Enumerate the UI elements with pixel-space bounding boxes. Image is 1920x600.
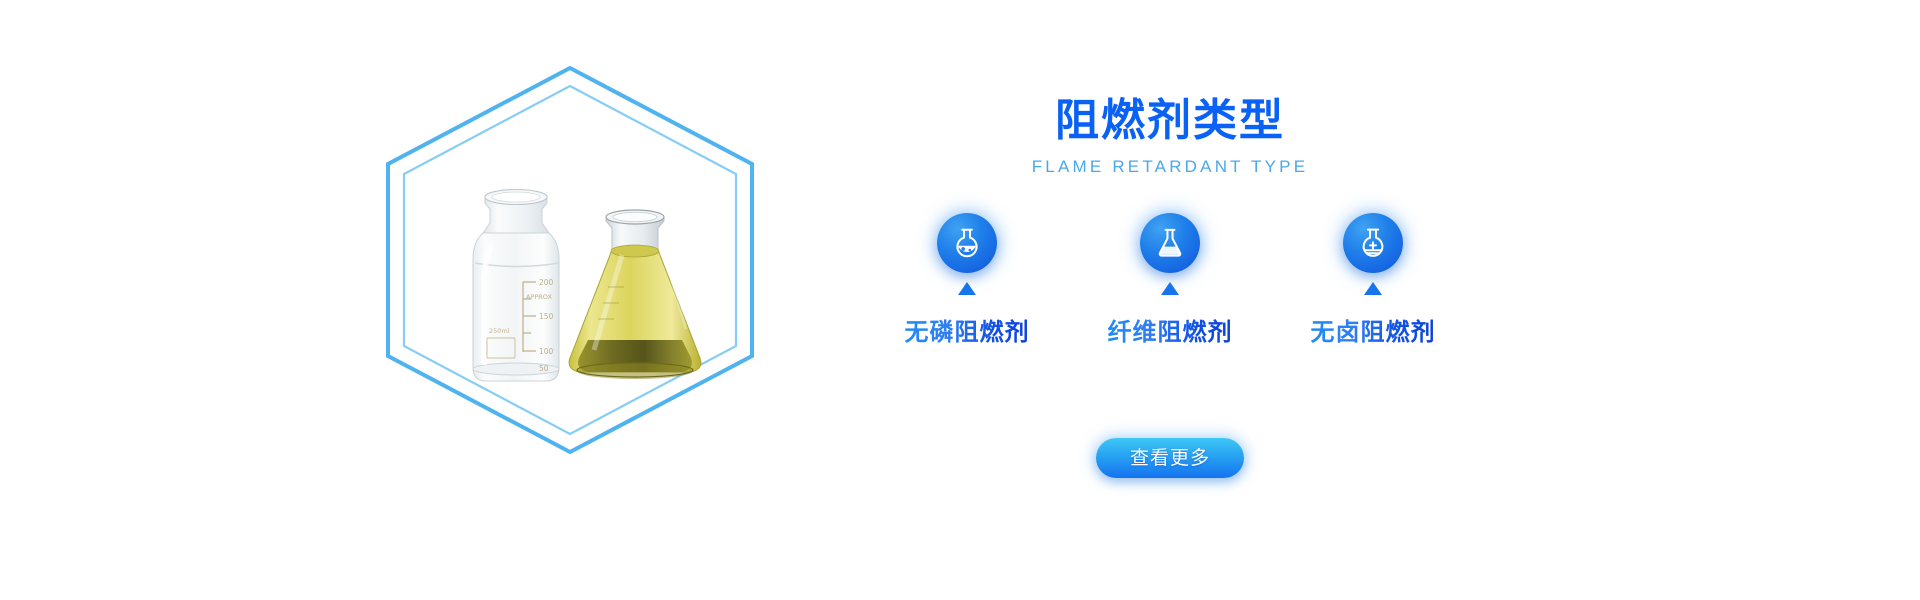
- flame-retardant-banner: 200 APPROX 150 100 50 250ml: [0, 0, 1920, 600]
- heading-block: 阻燃剂类型 FLAME RETARDANT TYPE: [860, 96, 1480, 177]
- hero-content-area: 阻燃剂类型 FLAME RETARDANT TYPE: [860, 0, 1920, 600]
- conical-flask-icon[interactable]: [1140, 213, 1200, 273]
- svg-text:200: 200: [539, 278, 554, 287]
- retardant-type-list: 无磷阻燃剂 纤维阻燃剂: [860, 213, 1480, 347]
- svg-text:50: 50: [539, 364, 549, 373]
- pointer-triangle-icon: [958, 282, 976, 295]
- svg-text:100: 100: [539, 347, 554, 356]
- page-subtitle: FLAME RETARDANT TYPE: [860, 157, 1480, 177]
- svg-text:APPROX: APPROX: [526, 293, 553, 301]
- type-item-fiber[interactable]: 纤维阻燃剂: [1075, 213, 1265, 347]
- round-bottom-flask-bubbles-icon[interactable]: [937, 213, 997, 273]
- type-item-halogen-free[interactable]: 无卤阻燃剂: [1278, 213, 1468, 347]
- svg-text:150: 150: [539, 312, 554, 321]
- type-label: 纤维阻燃剂: [1108, 312, 1233, 347]
- type-label: 无磷阻燃剂: [905, 312, 1030, 347]
- flask-plus-icon[interactable]: [1343, 213, 1403, 273]
- view-more-button[interactable]: 查看更多: [1096, 438, 1244, 478]
- type-label: 无卤阻燃剂: [1311, 312, 1436, 347]
- pointer-triangle-icon: [1364, 282, 1382, 295]
- chemical-glassware-photo: 200 APPROX 150 100 50 250ml: [440, 175, 730, 415]
- cta-area: 查看更多: [860, 438, 1480, 478]
- pointer-triangle-icon: [1161, 282, 1179, 295]
- page-title: 阻燃剂类型: [860, 96, 1480, 147]
- type-item-no-phosphorus[interactable]: 无磷阻燃剂: [872, 213, 1062, 347]
- hero-visual-area: 200 APPROX 150 100 50 250ml: [0, 0, 900, 600]
- svg-text:250ml: 250ml: [489, 327, 510, 335]
